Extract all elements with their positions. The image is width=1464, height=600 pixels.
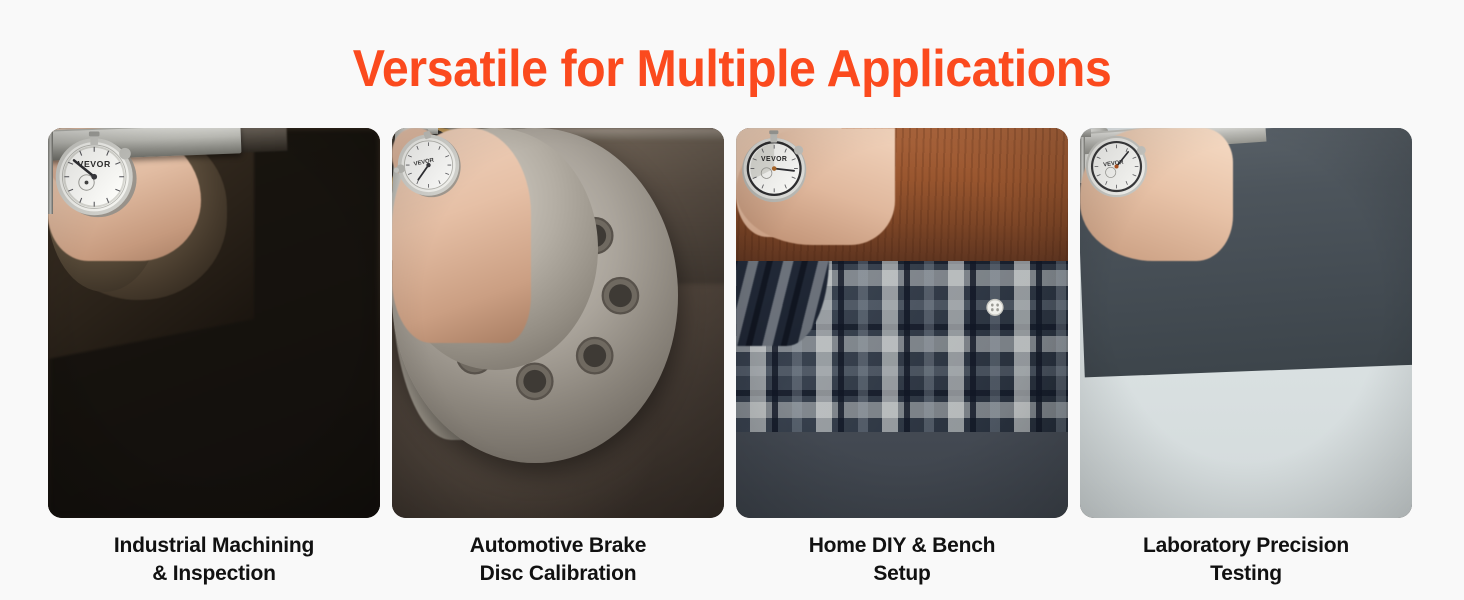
application-photo-brake-calibration: VEVOR — [392, 128, 724, 518]
application-card[interactable]: VEVOR Automotive Brake Disc Calibration — [392, 128, 724, 588]
caption-line-1: Home DIY & Bench — [809, 534, 996, 557]
caption-line-2: & Inspection — [152, 562, 276, 585]
dial-indicator-svg: VEVOR — [736, 128, 812, 206]
application-caption: Home DIY & Bench Setup — [736, 532, 1068, 588]
caption-line-1: Automotive Brake — [470, 534, 647, 557]
caption-line-1: Laboratory Precision — [1143, 534, 1349, 557]
application-photo-industrial-machining: VEVOR — [48, 128, 380, 518]
dial-indicator-gauge: VEVOR — [736, 128, 812, 206]
dial-indicator-gauge: VEVOR — [1080, 128, 1153, 202]
promo-banner: Versatile for Multiple Applications — [0, 0, 1464, 600]
caption-line-2: Disc Calibration — [480, 562, 637, 585]
dial-indicator-gauge: VEVOR — [392, 128, 465, 202]
dial-indicator-svg: VEVOR — [1080, 128, 1153, 202]
application-photo-home-diy: VEVOR — [736, 128, 1068, 518]
application-caption: Industrial Machining & Inspection — [48, 532, 380, 588]
application-photo-laboratory: VEVOR — [1080, 128, 1412, 518]
dial-indicator-svg: VEVOR — [48, 128, 144, 226]
application-card[interactable]: VEVOR Home DIY & Bench Setup — [736, 128, 1068, 588]
caption-line-2: Testing — [1210, 562, 1282, 585]
application-card-grid: VEVOR Industrial Machining & Inspection — [48, 128, 1416, 588]
caption-line-2: Setup — [873, 562, 930, 585]
svg-text:VEVOR: VEVOR — [761, 156, 787, 163]
application-card[interactable]: VEVOR Industrial Machining & Inspection — [48, 128, 380, 588]
dial-indicator-gauge: VEVOR — [48, 128, 144, 226]
page-title: Versatile for Multiple Applications — [51, 38, 1413, 100]
application-caption: Automotive Brake Disc Calibration — [392, 532, 724, 588]
application-caption: Laboratory Precision Testing — [1080, 532, 1412, 588]
caption-line-1: Industrial Machining — [114, 534, 314, 557]
application-card[interactable]: VEVOR Laboratory Precision Testing — [1080, 128, 1412, 588]
dial-indicator-svg: VEVOR — [392, 128, 465, 202]
